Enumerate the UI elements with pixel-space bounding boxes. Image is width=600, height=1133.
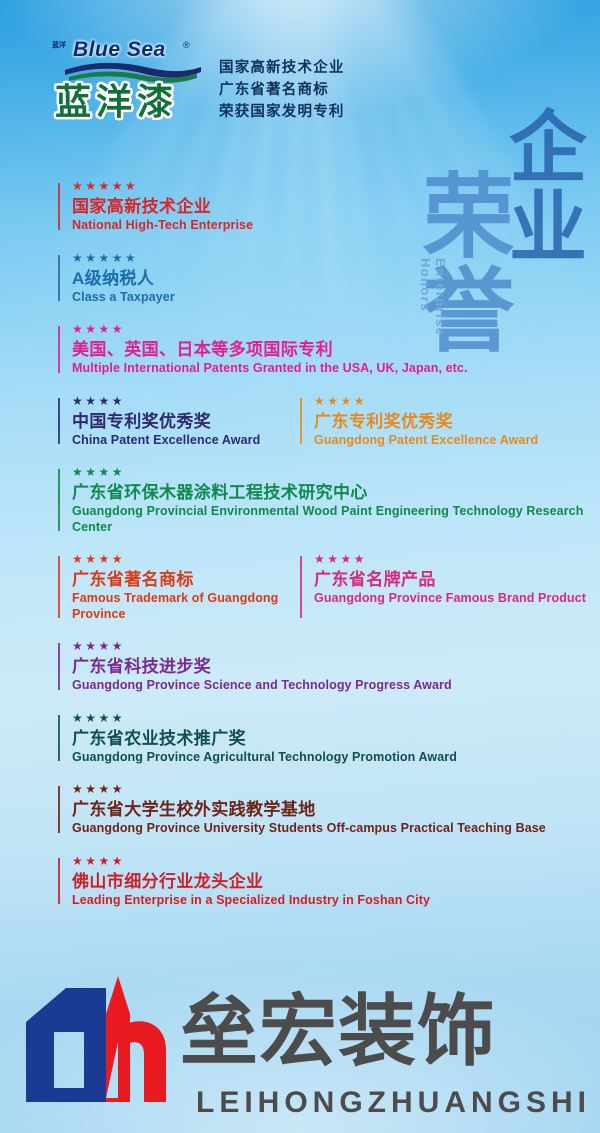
award-star-rating: ★★★★ — [314, 395, 600, 408]
award-title-english: Guangdong Provincial Environmental Wood … — [72, 504, 588, 535]
award-title-english: Guangdong Province University Students O… — [72, 821, 588, 837]
award-title-english: Guangdong Province Agricultural Technolo… — [72, 750, 588, 766]
brand-logo-english: Blue Sea — [73, 38, 166, 62]
award-item: ★★★★广东省科技进步奖Guangdong Province Science a… — [58, 640, 588, 694]
header-claims: 国家高新技术企业 广东省著名商标 荣获国家发明专利 — [219, 57, 345, 123]
award-title-chinese: 广东省大学生校外实践教学基地 — [72, 799, 588, 820]
award-item: ★★★★广东省大学生校外实践教学基地Guangdong Province Uni… — [58, 783, 588, 837]
award-row: ★★★★广东省农业技术推广奖Guangdong Province Agricul… — [0, 712, 600, 766]
award-title-english: China Patent Excellence Award — [72, 433, 300, 449]
brand-logo: 蓝洋 Blue Sea ® 蓝洋漆 — [55, 38, 205, 130]
award-item: ★★★★广东省农业技术推广奖Guangdong Province Agricul… — [58, 712, 588, 766]
watermark-english-text: LEIHONGZHUANGSHI — [196, 1087, 591, 1119]
award-item: ★★★★★国家高新技术企业National High-Tech Enterpri… — [58, 180, 588, 234]
award-star-rating: ★★★★ — [72, 323, 588, 336]
award-star-rating: ★★★★ — [72, 553, 300, 566]
award-star-rating: ★★★★★ — [72, 180, 588, 193]
award-star-rating: ★★★★ — [72, 466, 588, 479]
award-title-english: National High-Tech Enterprise — [72, 218, 588, 234]
brand-logo-cn-mark: 蓝洋 — [51, 42, 67, 49]
award-title-english: Guangdong Province Famous Brand Product — [314, 591, 600, 607]
award-row: ★★★★★A级纳税人Class a Taxpayer — [0, 252, 600, 306]
registered-trademark-icon: ® — [183, 40, 190, 50]
award-title-chinese: 广东省科技进步奖 — [72, 656, 588, 677]
award-row: ★★★★广东省大学生校外实践教学基地Guangdong Province Uni… — [0, 783, 600, 837]
award-title-chinese: 广东省著名商标 — [72, 569, 300, 590]
award-row: ★★★★★国家高新技术企业National High-Tech Enterpri… — [0, 180, 600, 234]
award-title-english: Famous Trademark of Guangdong Province — [72, 591, 300, 622]
award-item: ★★★★★A级纳税人Class a Taxpayer — [58, 252, 588, 306]
leihong-logo-icon — [20, 970, 190, 1115]
award-title-english: Multiple International Patents Granted i… — [72, 361, 588, 377]
header-claim-3: 荣获国家发明专利 — [219, 101, 345, 123]
award-item: ★★★★佛山市细分行业龙头企业Leading Enterprise in a S… — [58, 855, 588, 909]
award-title-chinese: 国家高新技术企业 — [72, 196, 588, 217]
award-title-chinese: 广东省农业技术推广奖 — [72, 728, 588, 749]
award-title-english: Guangdong Province Science and Technolog… — [72, 678, 588, 694]
award-row: ★★★★美国、英国、日本等多项国际专利Multiple Internationa… — [0, 323, 600, 377]
award-title-english: Leading Enterprise in a Specialized Indu… — [72, 893, 588, 909]
award-title-chinese: 广东省名牌产品 — [314, 569, 600, 590]
award-star-rating: ★★★★ — [72, 712, 588, 725]
award-item: ★★★★广东省名牌产品Guangdong Province Famous Bra… — [300, 553, 600, 622]
award-title-chinese: 佛山市细分行业龙头企业 — [72, 871, 588, 892]
watermark-overlay: 垒宏装饰 LEIHONGZHUANGSHI — [0, 958, 600, 1133]
award-title-chinese: A级纳税人 — [72, 268, 588, 289]
award-row: ★★★★广东省著名商标Famous Trademark of Guangdong… — [0, 553, 600, 622]
award-title-english: Class a Taxpayer — [72, 290, 588, 306]
award-row: ★★★★佛山市细分行业龙头企业Leading Enterprise in a S… — [0, 855, 600, 909]
brand-logo-chinese: 蓝洋漆 — [55, 82, 178, 122]
header-claim-1: 国家高新技术企业 — [219, 57, 345, 79]
poster-header: 蓝洋 Blue Sea ® 蓝洋漆 国家高新技术企业 广东省著名商标 荣获国家发… — [0, 0, 600, 150]
award-title-chinese: 美国、英国、日本等多项国际专利 — [72, 339, 588, 360]
poster-canvas: 蓝洋 Blue Sea ® 蓝洋漆 国家高新技术企业 广东省著名商标 荣获国家发… — [0, 0, 600, 1133]
award-item: ★★★★广东省环保木器涂料工程技术研究中心Guangdong Provincia… — [58, 466, 588, 535]
award-row: ★★★★广东省科技进步奖Guangdong Province Science a… — [0, 640, 600, 694]
watermark-chinese-text: 垒宏装饰 — [180, 991, 496, 1071]
header-claim-2: 广东省著名商标 — [219, 79, 345, 101]
award-row: ★★★★中国专利奖优秀奖China Patent Excellence Awar… — [0, 395, 600, 449]
award-title-english: Guangdong Patent Excellence Award — [314, 433, 600, 449]
award-title-chinese: 广东省环保木器涂料工程技术研究中心 — [72, 482, 588, 503]
award-star-rating: ★★★★ — [314, 553, 600, 566]
award-row: ★★★★广东省环保木器涂料工程技术研究中心Guangdong Provincia… — [0, 466, 600, 535]
award-item: ★★★★中国专利奖优秀奖China Patent Excellence Awar… — [58, 395, 300, 449]
award-item: ★★★★美国、英国、日本等多项国际专利Multiple Internationa… — [58, 323, 588, 377]
award-star-rating: ★★★★ — [72, 783, 588, 796]
award-star-rating: ★★★★ — [72, 855, 588, 868]
awards-list: ★★★★★国家高新技术企业National High-Tech Enterpri… — [0, 180, 600, 926]
award-item: ★★★★广东省著名商标Famous Trademark of Guangdong… — [58, 553, 300, 622]
award-star-rating: ★★★★ — [72, 395, 300, 408]
award-title-chinese: 广东专利奖优秀奖 — [314, 411, 600, 432]
award-star-rating: ★★★★ — [72, 640, 588, 653]
award-title-chinese: 中国专利奖优秀奖 — [72, 411, 300, 432]
award-item: ★★★★广东专利奖优秀奖Guangdong Patent Excellence … — [300, 395, 600, 449]
award-star-rating: ★★★★★ — [72, 252, 588, 265]
